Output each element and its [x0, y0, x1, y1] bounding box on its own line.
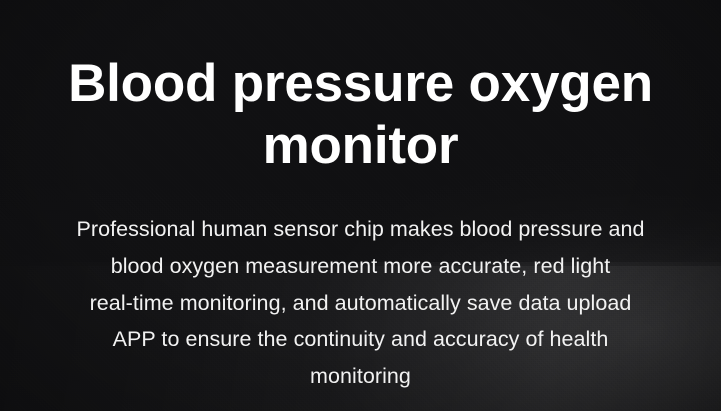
- subcopy-line-5: monitoring: [41, 358, 681, 395]
- subcopy-line-2: blood oxygen measurement more accurate, …: [41, 248, 681, 285]
- headline-line-1: Blood pressure oxygen: [31, 57, 691, 110]
- product-banner: Blood pressure oxygen monitor Profession…: [0, 0, 721, 411]
- subcopy-line-1: Professional human sensor chip makes blo…: [41, 211, 681, 248]
- headline-line-2: monitor: [31, 119, 691, 172]
- banner-subcopy: Professional human sensor chip makes blo…: [41, 211, 681, 395]
- subcopy-line-4: APP to ensure the continuity and accurac…: [41, 321, 681, 358]
- subcopy-line-3: real-time monitoring, and automatically …: [41, 285, 681, 322]
- banner-headline: Blood pressure oxygen monitor: [31, 0, 691, 172]
- banner-content: Blood pressure oxygen monitor Profession…: [0, 0, 721, 411]
